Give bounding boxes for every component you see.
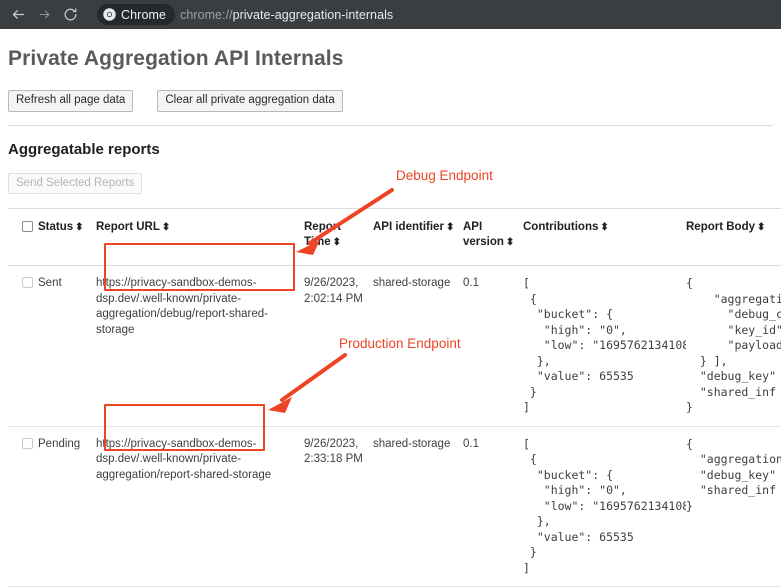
cell-api-identifier: shared-storage: [373, 266, 463, 427]
table-row[interactable]: Sent https://privacy-sandbox-demos-dsp.d…: [8, 266, 781, 427]
chrome-logo-icon: [103, 8, 116, 21]
table-row[interactable]: Pending https://privacy-sandbox-demos-ds…: [8, 426, 781, 587]
send-selected-reports-button[interactable]: Send Selected Reports: [8, 173, 142, 195]
sort-icon[interactable]: ⬍: [73, 222, 83, 233]
column-header-contributions[interactable]: Contributions⬍: [523, 209, 686, 266]
url-scheme: chrome://: [180, 8, 233, 22]
column-header-status-label: Status: [38, 221, 73, 233]
arrow-right-icon: [38, 8, 51, 21]
column-header-report-body[interactable]: Report Body⬍: [686, 209, 781, 266]
sort-icon[interactable]: ⬍: [504, 237, 514, 248]
row-checkbox[interactable]: [22, 277, 33, 288]
cell-report-time: 9/26/2023, 2:02:14 PM: [304, 266, 373, 427]
cell-status: Pending: [38, 426, 96, 587]
cell-report-url: https://privacy-sandbox-demos-dsp.dev/.w…: [96, 266, 304, 427]
row-checkbox[interactable]: [22, 438, 33, 449]
reload-icon: [63, 7, 78, 22]
column-header-report-body-label: Report Body: [686, 221, 755, 233]
column-header-api-identifier[interactable]: API identifier⬍: [373, 209, 463, 266]
sort-icon[interactable]: ⬍: [160, 222, 170, 233]
page-title: Private Aggregation API Internals: [8, 47, 773, 71]
cell-api-identifier: shared-storage: [373, 426, 463, 587]
url-host: private-aggregation-internals: [233, 8, 394, 22]
back-button[interactable]: [6, 3, 30, 27]
cell-status: Sent: [38, 266, 96, 427]
cell-report-body: { "aggregation_ "debug_c "key_id" "paylo…: [686, 266, 781, 427]
sort-icon[interactable]: ⬍: [755, 222, 765, 233]
cell-api-version: 0.1: [463, 266, 523, 427]
table-header-row: Status⬍ Report URL⬍ Report Time⬍ API ide…: [8, 209, 781, 266]
column-header-report-url-label: Report URL: [96, 221, 160, 233]
select-all-checkbox[interactable]: [22, 221, 33, 232]
column-header-report-url[interactable]: Report URL⬍: [96, 209, 304, 266]
reload-button[interactable]: [58, 3, 82, 27]
cell-contributions: [ { "bucket": { "high": "0", "low": "169…: [523, 266, 686, 427]
cell-report-time: 9/26/2023, 2:33:18 PM: [304, 426, 373, 587]
column-header-api-version-label: API version: [463, 221, 504, 247]
column-header-api-version[interactable]: API version⬍: [463, 209, 523, 266]
page-content: Private Aggregation API Internals Refres…: [0, 47, 781, 587]
divider: [8, 125, 773, 126]
sort-icon[interactable]: ⬍: [331, 237, 341, 248]
refresh-all-page-data-button[interactable]: Refresh all page data: [8, 90, 133, 112]
column-header-report-time[interactable]: Report Time⬍: [304, 209, 373, 266]
arrow-left-icon: [11, 7, 26, 22]
sort-icon[interactable]: ⬍: [598, 222, 608, 233]
column-header-api-identifier-label: API identifier: [373, 221, 444, 233]
chrome-chip[interactable]: Chrome: [97, 4, 175, 25]
cell-api-version: 0.1: [463, 426, 523, 587]
cell-contributions: [ { "bucket": { "high": "0", "low": "169…: [523, 426, 686, 587]
row-select-cell[interactable]: [8, 266, 38, 427]
column-header-select-all[interactable]: [8, 209, 38, 266]
sort-icon[interactable]: ⬍: [444, 222, 454, 233]
cell-report-url: https://privacy-sandbox-demos-dsp.dev/.w…: [96, 426, 304, 587]
url-text[interactable]: chrome://private-aggregation-internals: [180, 8, 393, 22]
column-header-contributions-label: Contributions: [523, 221, 598, 233]
section-title: Aggregatable reports: [8, 141, 773, 158]
top-button-row: Refresh all page data Clear all private …: [8, 90, 773, 112]
forward-button[interactable]: [32, 3, 56, 27]
table-header: Status⬍ Report URL⬍ Report Time⬍ API ide…: [8, 209, 781, 266]
table-body: Sent https://privacy-sandbox-demos-dsp.d…: [8, 266, 781, 587]
address-bar[interactable]: Chrome chrome://private-aggregation-inte…: [89, 4, 775, 25]
cell-report-body: { "aggregation_ "debug_key" "shared_inf …: [686, 426, 781, 587]
aggregatable-reports-table: Status⬍ Report URL⬍ Report Time⬍ API ide…: [8, 208, 781, 587]
column-header-status[interactable]: Status⬍: [38, 209, 96, 266]
clear-all-private-aggregation-data-button[interactable]: Clear all private aggregation data: [157, 90, 342, 112]
row-select-cell[interactable]: [8, 426, 38, 587]
chrome-chip-label: Chrome: [121, 8, 166, 22]
browser-toolbar: Chrome chrome://private-aggregation-inte…: [0, 0, 781, 29]
